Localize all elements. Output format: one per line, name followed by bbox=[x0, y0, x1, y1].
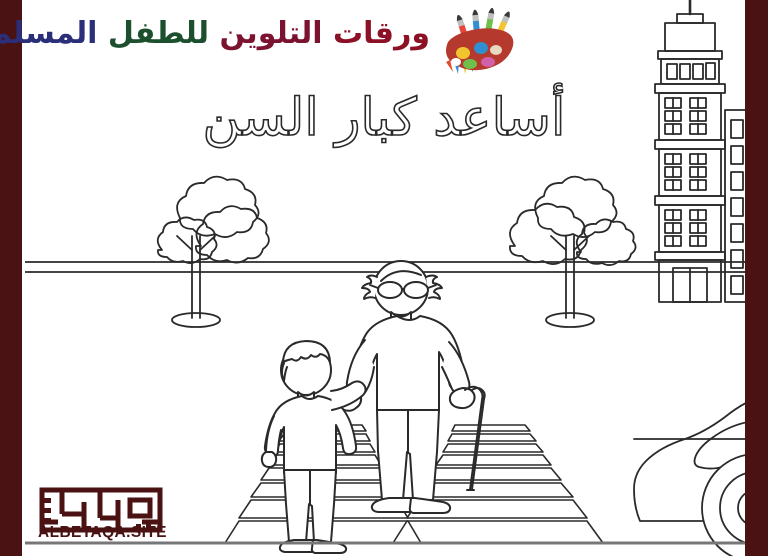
right-border bbox=[745, 0, 768, 556]
brand-word-3: للطفل bbox=[108, 16, 209, 51]
palette-with-brushes-icon bbox=[430, 6, 516, 76]
coloring-page: ورقات التلوين للطفل المسلم bbox=[0, 0, 768, 556]
brand-word-4: المسلم bbox=[0, 16, 97, 51]
brand-logo-text: ورقات التلوين للطفل المسلم bbox=[0, 16, 430, 51]
page-title: أساعد كبار السن bbox=[0, 88, 768, 148]
tree-right-icon bbox=[510, 177, 636, 327]
brand-word-2: التلوين bbox=[219, 16, 322, 51]
scene-artwork bbox=[25, 0, 745, 556]
tree-left-icon bbox=[158, 177, 269, 327]
building-icon bbox=[655, 0, 745, 302]
brand-word-1: ورقات bbox=[333, 16, 430, 51]
brand-logo: ورقات التلوين للطفل المسلم bbox=[36, 6, 516, 78]
left-border bbox=[0, 0, 22, 556]
car-icon bbox=[634, 395, 745, 556]
site-name-label: ALBETAQA.SITE bbox=[38, 524, 183, 542]
